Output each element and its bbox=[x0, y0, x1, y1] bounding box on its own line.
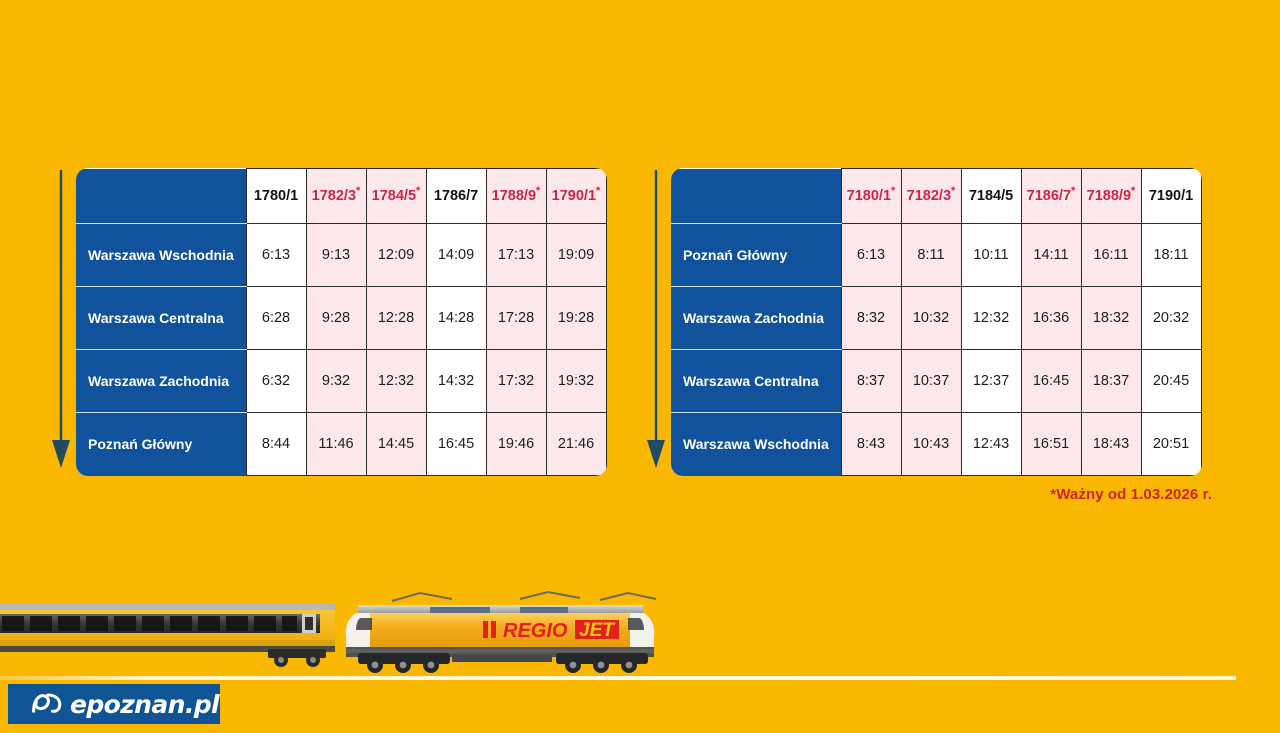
station-name: Warszawa Zachodnia bbox=[671, 287, 841, 350]
departure-time: 14:09 bbox=[426, 224, 486, 287]
departure-time: 11:46 bbox=[306, 413, 366, 476]
departure-time: 8:32 bbox=[841, 287, 901, 350]
station-name: Poznań Główny bbox=[671, 224, 841, 287]
departure-time: 14:28 bbox=[426, 287, 486, 350]
train-column-header: 7186/7* bbox=[1021, 169, 1081, 224]
departure-time: 16:45 bbox=[426, 413, 486, 476]
table-row: Poznań Główny 6:13 8:11 10:11 14:11 16:1… bbox=[671, 224, 1201, 287]
table-row: Warszawa Zachodnia 6:32 9:32 12:32 14:32… bbox=[76, 350, 606, 413]
departure-time: 8:11 bbox=[901, 224, 961, 287]
departure-time: 14:32 bbox=[426, 350, 486, 413]
train-column-header: 7180/1* bbox=[841, 169, 901, 224]
table-row: Warszawa Zachodnia 8:32 10:32 12:32 16:3… bbox=[671, 287, 1201, 350]
train-number: 7190/1 bbox=[1149, 188, 1193, 204]
train-number: 7186/7 bbox=[1027, 188, 1071, 204]
timetable-card: 1780/1 1782/3* 1784/5* 1786/7 1788/9* 17… bbox=[76, 168, 607, 476]
table-row: Warszawa Wschodnia 8:43 10:43 12:43 16:5… bbox=[671, 413, 1201, 476]
down-arrow-icon bbox=[46, 168, 76, 473]
passenger-coaches bbox=[0, 603, 335, 667]
departure-time: 17:13 bbox=[486, 224, 546, 287]
infographic-canvas: 1780/1 1782/3* 1784/5* 1786/7 1788/9* 17… bbox=[0, 0, 1280, 733]
departure-time: 18:43 bbox=[1081, 413, 1141, 476]
departure-time: 10:43 bbox=[901, 413, 961, 476]
asterisk-marker: * bbox=[1071, 185, 1075, 197]
table-header-row: 1780/1 1782/3* 1784/5* 1786/7 1788/9* 17… bbox=[76, 169, 606, 224]
departure-time: 14:11 bbox=[1021, 224, 1081, 287]
departure-time: 18:11 bbox=[1141, 224, 1201, 287]
departure-time: 6:32 bbox=[246, 350, 306, 413]
station-column-header bbox=[671, 169, 841, 224]
train-number: 1784/5 bbox=[372, 188, 416, 204]
departure-time: 10:37 bbox=[901, 350, 961, 413]
departure-time: 19:28 bbox=[546, 287, 606, 350]
table-row: Warszawa Wschodnia 6:13 9:13 12:09 14:09… bbox=[76, 224, 606, 287]
epoznan-swoosh-icon bbox=[30, 691, 66, 717]
departure-time: 10:11 bbox=[961, 224, 1021, 287]
train-illustration: REGIO JET bbox=[0, 585, 1280, 680]
departure-time: 20:45 bbox=[1141, 350, 1201, 413]
train-number: 1782/3 bbox=[312, 188, 356, 204]
asterisk-marker: * bbox=[416, 185, 420, 197]
departure-time: 20:32 bbox=[1141, 287, 1201, 350]
timetable-grid-0: 1780/1 1782/3* 1784/5* 1786/7 1788/9* 17… bbox=[76, 168, 607, 476]
departure-time: 9:32 bbox=[306, 350, 366, 413]
timetable-warszawa-poznan: 1780/1 1782/3* 1784/5* 1786/7 1788/9* 17… bbox=[46, 168, 607, 476]
station-name: Warszawa Centralna bbox=[671, 350, 841, 413]
departure-time: 8:43 bbox=[841, 413, 901, 476]
train-number: 1788/9 bbox=[492, 188, 536, 204]
departure-time: 16:45 bbox=[1021, 350, 1081, 413]
train-number: 7188/9 bbox=[1087, 188, 1131, 204]
station-name: Warszawa Wschodnia bbox=[76, 224, 246, 287]
departure-time: 19:32 bbox=[546, 350, 606, 413]
train-number: 7180/1 bbox=[847, 188, 891, 204]
asterisk-marker: * bbox=[891, 185, 895, 197]
departure-time: 18:32 bbox=[1081, 287, 1141, 350]
train-column-header: 1780/1 bbox=[246, 169, 306, 224]
table-row: Warszawa Centralna 8:37 10:37 12:37 16:4… bbox=[671, 350, 1201, 413]
asterisk-marker: * bbox=[951, 185, 955, 197]
departure-time: 8:37 bbox=[841, 350, 901, 413]
svg-text:REGIO: REGIO bbox=[503, 620, 568, 642]
table-row: Warszawa Centralna 6:28 9:28 12:28 14:28… bbox=[76, 287, 606, 350]
departure-time: 19:09 bbox=[546, 224, 606, 287]
epoznan-logo[interactable]: epoznan.pl bbox=[8, 684, 220, 724]
rail-line bbox=[0, 676, 1236, 680]
station-name: Warszawa Wschodnia bbox=[671, 413, 841, 476]
departure-time: 12:09 bbox=[366, 224, 426, 287]
departure-time: 12:37 bbox=[961, 350, 1021, 413]
station-name: Poznań Główny bbox=[76, 413, 246, 476]
train-column-header: 1790/1* bbox=[546, 169, 606, 224]
departure-time: 10:32 bbox=[901, 287, 961, 350]
departure-time: 17:32 bbox=[486, 350, 546, 413]
timetable-poznan-warszawa: 7180/1* 7182/3* 7184/5 7186/7* 7188/9* 7… bbox=[641, 168, 1202, 476]
departure-time: 8:44 bbox=[246, 413, 306, 476]
train-number: 7182/3 bbox=[907, 188, 951, 204]
station-name: Warszawa Zachodnia bbox=[76, 350, 246, 413]
regiojet-wordmark: REGIO JET bbox=[483, 620, 619, 642]
asterisk-marker: * bbox=[536, 185, 540, 197]
train-column-header: 7190/1 bbox=[1141, 169, 1201, 224]
departure-time: 16:36 bbox=[1021, 287, 1081, 350]
train-column-header: 1788/9* bbox=[486, 169, 546, 224]
departure-time: 9:13 bbox=[306, 224, 366, 287]
train-column-header: 1784/5* bbox=[366, 169, 426, 224]
station-column-header bbox=[76, 169, 246, 224]
logo-text: epoznan.pl bbox=[70, 690, 219, 719]
departure-time: 12:43 bbox=[961, 413, 1021, 476]
departure-time: 18:37 bbox=[1081, 350, 1141, 413]
asterisk-marker: * bbox=[1131, 185, 1135, 197]
timetable-card: 7180/1* 7182/3* 7184/5 7186/7* 7188/9* 7… bbox=[671, 168, 1202, 476]
departure-time: 6:13 bbox=[246, 224, 306, 287]
train-number: 7184/5 bbox=[969, 188, 1013, 204]
departure-time: 6:28 bbox=[246, 287, 306, 350]
departure-time: 20:51 bbox=[1141, 413, 1201, 476]
down-arrow-icon bbox=[641, 168, 671, 473]
departure-time: 6:13 bbox=[841, 224, 901, 287]
train-column-header: 7188/9* bbox=[1081, 169, 1141, 224]
train-column-header: 1786/7 bbox=[426, 169, 486, 224]
svg-text:JET: JET bbox=[579, 620, 615, 641]
departure-time: 12:28 bbox=[366, 287, 426, 350]
train-number: 1786/7 bbox=[434, 188, 478, 204]
timetable-grid-1: 7180/1* 7182/3* 7184/5 7186/7* 7188/9* 7… bbox=[671, 168, 1202, 476]
departure-time: 14:45 bbox=[366, 413, 426, 476]
departure-time: 16:11 bbox=[1081, 224, 1141, 287]
departure-time: 19:46 bbox=[486, 413, 546, 476]
train-column-header: 7184/5 bbox=[961, 169, 1021, 224]
departure-time: 16:51 bbox=[1021, 413, 1081, 476]
train-number: 1780/1 bbox=[254, 188, 298, 204]
train-number: 1790/1 bbox=[552, 188, 596, 204]
departure-time: 12:32 bbox=[961, 287, 1021, 350]
regiojet-locomotive: REGIO JET bbox=[346, 592, 656, 673]
table-row: Poznań Główny 8:44 11:46 14:45 16:45 19:… bbox=[76, 413, 606, 476]
departure-time: 17:28 bbox=[486, 287, 546, 350]
asterisk-marker: * bbox=[356, 185, 360, 197]
departure-time: 9:28 bbox=[306, 287, 366, 350]
asterisk-marker: * bbox=[596, 185, 600, 197]
departure-time: 21:46 bbox=[546, 413, 606, 476]
departure-time: 12:32 bbox=[366, 350, 426, 413]
validity-footnote: *Ważny od 1.03.2026 r. bbox=[0, 486, 1212, 503]
station-name: Warszawa Centralna bbox=[76, 287, 246, 350]
train-column-header: 1782/3* bbox=[306, 169, 366, 224]
train-column-header: 7182/3* bbox=[901, 169, 961, 224]
table-header-row: 7180/1* 7182/3* 7184/5 7186/7* 7188/9* 7… bbox=[671, 169, 1201, 224]
